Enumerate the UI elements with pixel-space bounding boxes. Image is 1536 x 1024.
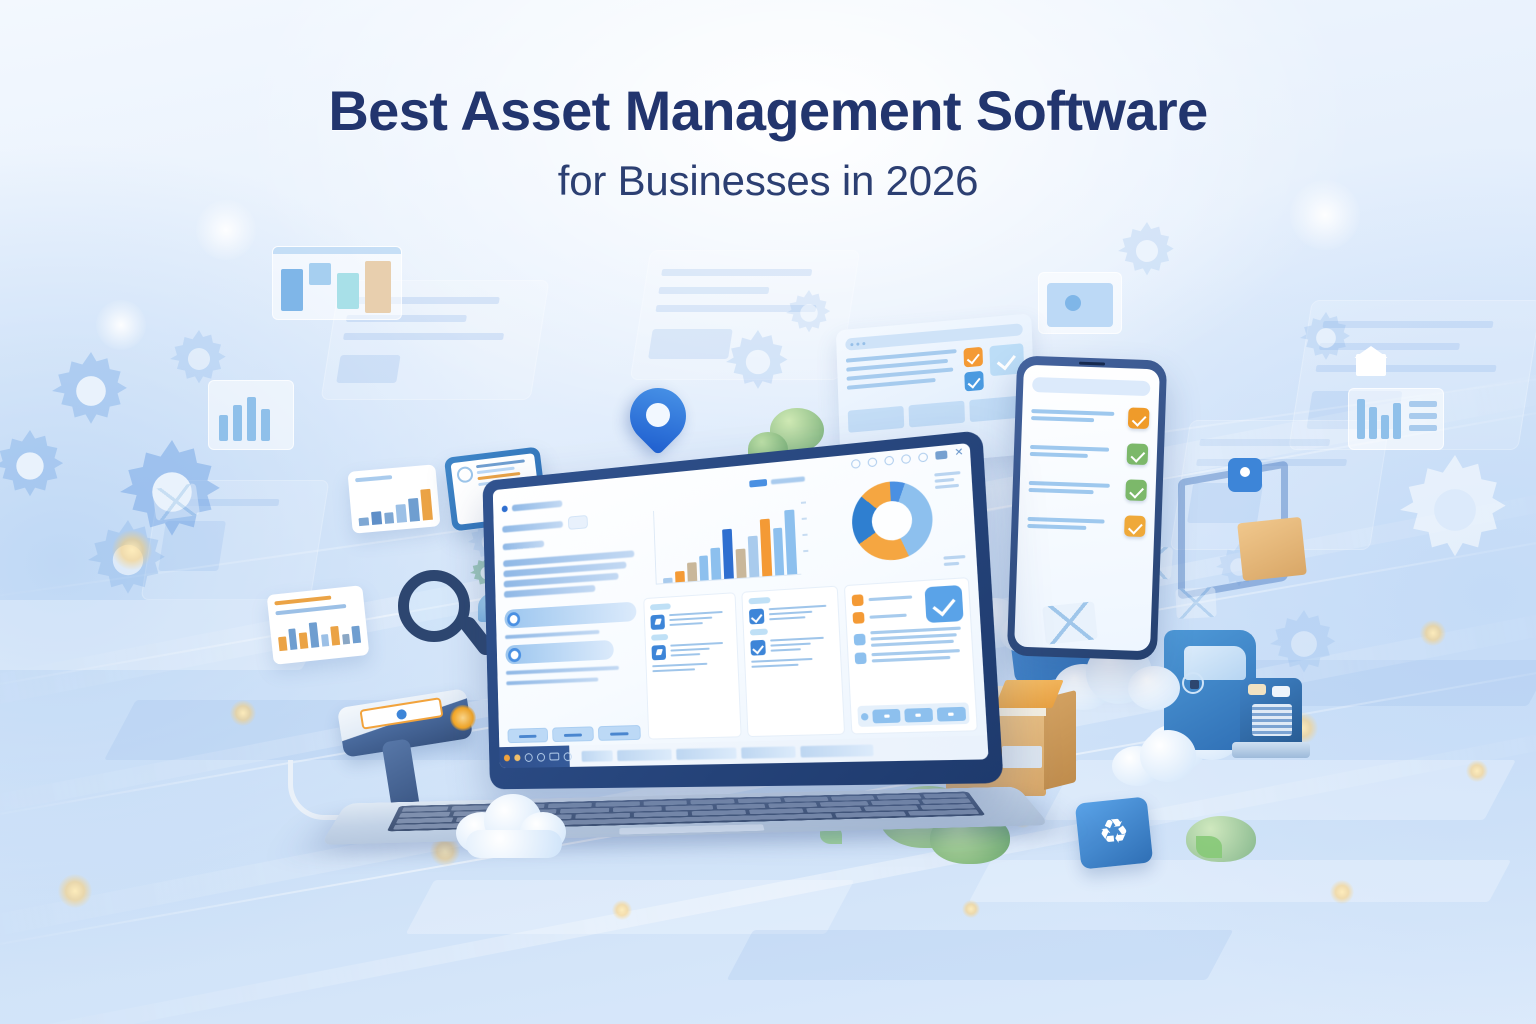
toggle-switch[interactable] [568,515,588,530]
trackpad[interactable] [619,824,764,834]
gear-icon [52,352,130,430]
list-item[interactable] [1028,476,1147,501]
taskbar-tab[interactable] [800,744,873,757]
sidebar-item-inventory[interactable] [505,640,613,665]
bar [663,578,672,583]
chart-legend [749,475,805,487]
gear-icon [1300,312,1352,364]
dashboard-screen: ✕ [493,443,989,768]
footer-button[interactable] [937,706,966,721]
sidebar-action-buttons[interactable] [507,725,641,743]
search-input[interactable] [1032,377,1150,396]
bar [760,519,772,576]
donut-legend [934,471,961,489]
sidebar-item-assets[interactable] [504,602,636,629]
bokeh-light [96,300,146,350]
list-item[interactable] [1030,440,1149,465]
brand-logo [502,494,633,513]
laptop-lid: ✕ [482,430,1003,789]
bokeh-light [962,900,980,918]
envelope-icon [1042,601,1098,644]
checkbox[interactable] [852,611,864,623]
taskbar-tab[interactable] [676,747,737,759]
filter-icon[interactable] [918,452,928,462]
settings-icon[interactable] [867,457,877,467]
status-dot [504,754,510,761]
large-check-icon[interactable] [924,584,963,622]
bar [736,548,747,578]
background-chart-tile [1348,388,1444,450]
taskbar-icon[interactable] [525,753,533,762]
bar [722,529,734,579]
laptop-base [320,787,1049,845]
phone-speaker [1079,362,1105,366]
bokeh-light [230,700,256,726]
bar [687,562,697,581]
hero-title-block: Best Asset Management Software for Busin… [0,82,1536,205]
task-card[interactable] [741,585,845,737]
page-subtitle: for Businesses in 2026 [0,157,1536,205]
bokeh-light [1330,880,1354,904]
footer-button[interactable] [904,707,933,722]
grid-cell [848,406,905,433]
laptop-dashboard: ✕ [340,455,1040,885]
checkbox-checked[interactable] [1128,407,1150,429]
check-icon[interactable] [750,639,766,655]
action-button[interactable] [552,726,594,742]
bar-chart [640,475,817,592]
check-icon[interactable] [749,608,764,624]
link-icon[interactable] [884,455,894,465]
bokeh-light [196,200,256,260]
taskbar-tab[interactable] [741,746,796,758]
checkbox-checked[interactable] [963,347,983,368]
bar [699,555,709,580]
donut-chart [819,460,968,579]
checkbox-checked[interactable] [1124,515,1146,537]
checkbox[interactable] [852,594,864,606]
background-chart-tile [208,380,294,450]
bar [748,536,759,577]
gear-icon [1118,222,1176,280]
background-home-icon [1350,340,1398,384]
window-icon[interactable] [935,450,947,459]
grid-cell [908,401,965,428]
bar [785,509,798,574]
background-image-tile [1038,272,1122,334]
bokeh-light [112,530,152,570]
bokeh-light [1420,620,1446,646]
list-item[interactable] [1031,404,1150,429]
donut-legend [943,555,965,566]
edit-icon[interactable] [652,644,667,659]
gear-icon [726,330,790,394]
bar-series [661,500,798,582]
edit-icon[interactable] [651,614,666,630]
location-pin-icon [630,388,686,464]
recycle-tag-icon [1075,796,1154,869]
gear-icon [786,290,832,336]
close-icon[interactable]: ✕ [954,448,964,459]
bar [675,571,685,582]
taskbar-tab[interactable] [581,750,612,761]
bokeh-light [58,874,92,908]
background-kanban-window [272,246,402,320]
footer-button[interactable] [873,708,901,723]
checklist-card[interactable] [844,577,978,735]
card-footer-actions[interactable] [857,702,969,727]
checkbox[interactable] [854,633,866,645]
taskbar-tab[interactable] [617,749,672,761]
envelope-icon [152,483,200,521]
taskbar-icon[interactable] [564,752,572,761]
status-dot [514,754,520,761]
package-small [1237,517,1307,581]
gear-icon [0,430,66,502]
bar [711,547,722,579]
clock-icon[interactable] [901,453,911,463]
checkbox-checked[interactable] [964,371,984,392]
plant-sprig-icon [1196,836,1222,858]
action-button[interactable] [598,725,641,741]
list-item[interactable] [1027,512,1146,537]
checkbox-checked[interactable] [1127,443,1149,465]
taskbar-icon[interactable] [549,753,559,761]
dashboard-sidebar [502,492,641,743]
taskbar-icon[interactable] [537,752,545,761]
bar [773,528,785,575]
bokeh-light [612,900,632,920]
envelope-icon [1175,587,1217,619]
task-card[interactable] [643,592,741,740]
checkbox[interactable] [855,652,867,664]
action-button[interactable] [507,728,548,743]
page-title: Best Asset Management Software [0,82,1536,141]
bokeh-light [1466,760,1488,782]
minimize-icon[interactable] [851,458,861,468]
hero-illustration: Best Asset Management Software for Busin… [0,0,1536,1024]
checkbox-checked[interactable] [1125,479,1147,501]
gear-icon [1400,455,1510,565]
rack-tag-icon [1228,458,1262,492]
